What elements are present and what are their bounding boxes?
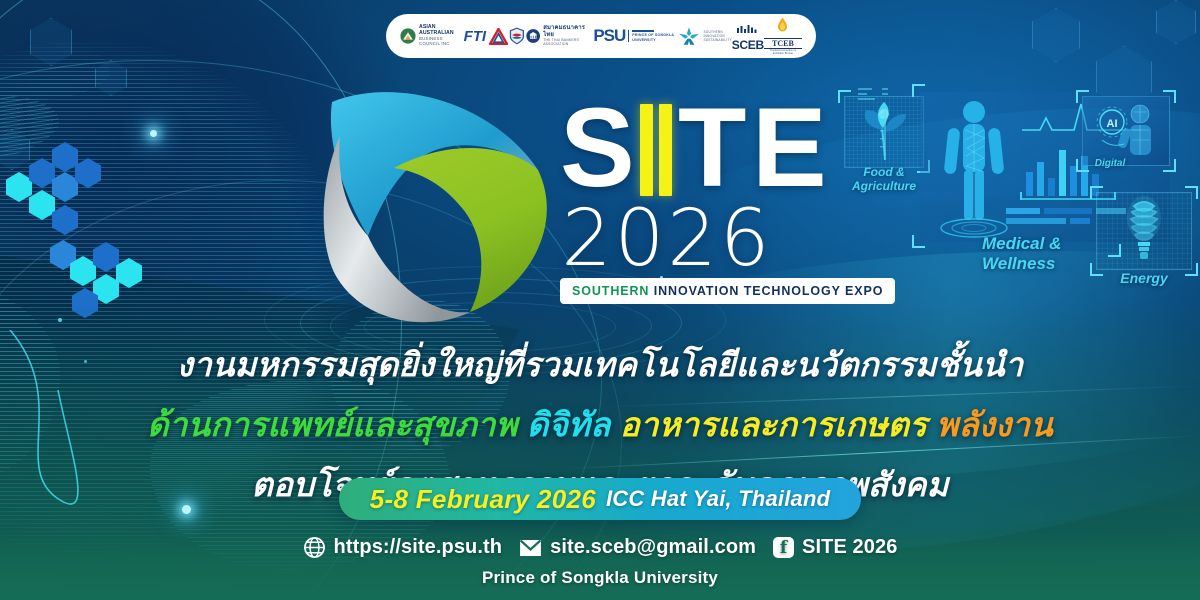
site-letter-e: E [752,96,825,200]
sponsor-logo-bar: ASIAN AUSTRALIAN BUSINESS COUNCIL INC FT… [386,14,816,58]
site-swirl-logo-mark [302,84,568,346]
sponsor-logo-thai-shield-emblem [508,25,526,47]
sceb-skyline-icon [735,24,761,33]
sponsor-logo-asian-australian-business-council: ASIAN AUSTRALIAN BUSINESS COUNCIL INC [400,25,464,46]
fti-triangle-icon [489,28,508,45]
panel-label-energy: Energy [1092,270,1196,286]
frame-corner [1090,186,1103,199]
headline-segment-energy: พลังงาน [936,406,1053,443]
tagline-rest: INNOVATION TECHNOLOGY EXPO [654,284,884,298]
site-2026-promo-banner: ASIAN AUSTRALIAN BUSINESS COUNCIL INC FT… [0,0,1200,600]
headline-segment-agriculture: อาหารและการเกษตร [620,406,927,443]
headline-line-2: ด้านการแพทย์และสุขภาพ ดิจิทัล อาหารและกา… [0,398,1200,451]
contact-facebook[interactable]: f SITE 2026 [773,536,897,559]
data-bar [1006,218,1066,224]
hud-ticks-decoration [856,84,890,194]
site-letter-s: S [560,96,633,200]
lightbulb-icon [1120,196,1168,268]
sponsor-logo-text: SOUTHERNINNOVATIONSUSTAINABILITY [703,30,731,42]
sponsor-logo-text: PRINCE OF SONGKLA UNIVERSITY [628,30,678,41]
frame-corner [912,84,925,97]
data-bar [1044,208,1092,214]
site-yellow-bar [640,104,653,196]
envelope-icon [519,539,542,557]
organizer-name: Prince of Songkla University [0,568,1200,588]
frame-corner [1163,159,1176,172]
panel-label-digital: Digital [1082,158,1138,170]
human-body-icon [932,96,1016,246]
panel-digital: AI Digital [1078,96,1178,196]
headline-line-1: งานมหกรรมสุดยิ่งใหญ่ที่รวมเทคโนโลยีและนว… [0,338,1200,391]
site-year: 2026 [562,200,773,278]
contact-website[interactable]: https://site.psu.th [303,536,503,559]
sustainability-burst-icon [678,26,700,46]
panel-energy: Energy [1092,192,1198,300]
site-2026-wordmark: S T E 2026 SOUTHERN INNOVATION TECHNOLOG… [560,96,860,296]
swirl-lobe-green [394,148,547,312]
sponsor-logo-sceb: SCEB [732,20,764,52]
event-venue: ICC Hat Yai, Thailand [606,486,830,512]
svg-text:AI: AI [1107,118,1118,130]
tiny-dot [58,318,62,322]
tba-emblem-icon [526,27,540,45]
site-yellow-bar [659,104,672,196]
contact-row: https://site.psu.th site.sceb@gmail.com … [0,536,1200,559]
facebook-icon: f [773,537,794,558]
sponsor-logo-thai-bankers-association: สมาคมธนาคารไทย THE THAI BANKERS' ASSOCIA… [526,25,593,46]
facebook-page-name: SITE 2026 [802,536,897,559]
site-letter-t: T [678,96,744,200]
sponsor-logo-tceb: TCEB Thailand Convention & Exhibition Bu… [764,17,802,55]
headline-segment-medical: ด้านการแพทย์และสุขภาพ [147,406,517,443]
contact-email[interactable]: site.sceb@gmail.com [519,536,756,559]
tagline-southern: SOUTHERN [572,284,649,298]
globe-icon [303,536,326,559]
data-bar [1070,218,1090,224]
headline-segment-digital: ดิจิทัล [527,406,611,443]
tceb-flame-icon [776,17,789,33]
site-letters: S T E [560,96,860,204]
event-date-pill: 5-8 February 2026 ICC Hat Yai, Thailand [339,478,861,520]
frame-corner [1163,90,1176,103]
data-bar [1006,208,1040,214]
ai-robot-icon: AI [1088,100,1164,162]
sponsor-logo-text: ASIAN AUSTRALIAN BUSINESS COUNCIL INC [419,25,464,46]
sponsor-logo-text: สมาคมธนาคารไทย THE THAI BANKERS' ASSOCIA… [543,25,593,46]
website-url: https://site.psu.th [334,536,503,559]
event-date: 5-8 February 2026 [370,484,596,515]
site-tagline-bar: SOUTHERN INNOVATION TECHNOLOGY EXPO [560,278,895,304]
glow-dot [150,130,157,137]
sponsor-logo-fti: FTI [464,28,509,45]
email-address: site.sceb@gmail.com [550,536,756,559]
sponsor-logo-psu: PSU PRINCE OF SONGKLA UNIVERSITY [593,26,678,46]
frame-corner [838,90,851,103]
aabc-emblem-icon [400,26,416,46]
sponsor-logo-southern-innovation-sustainability: SOUTHERNINNOVATIONSUSTAINABILITY [678,26,731,46]
chart-tick [1020,192,1022,200]
frame-corner [1185,186,1198,199]
frame-corner [912,235,925,248]
